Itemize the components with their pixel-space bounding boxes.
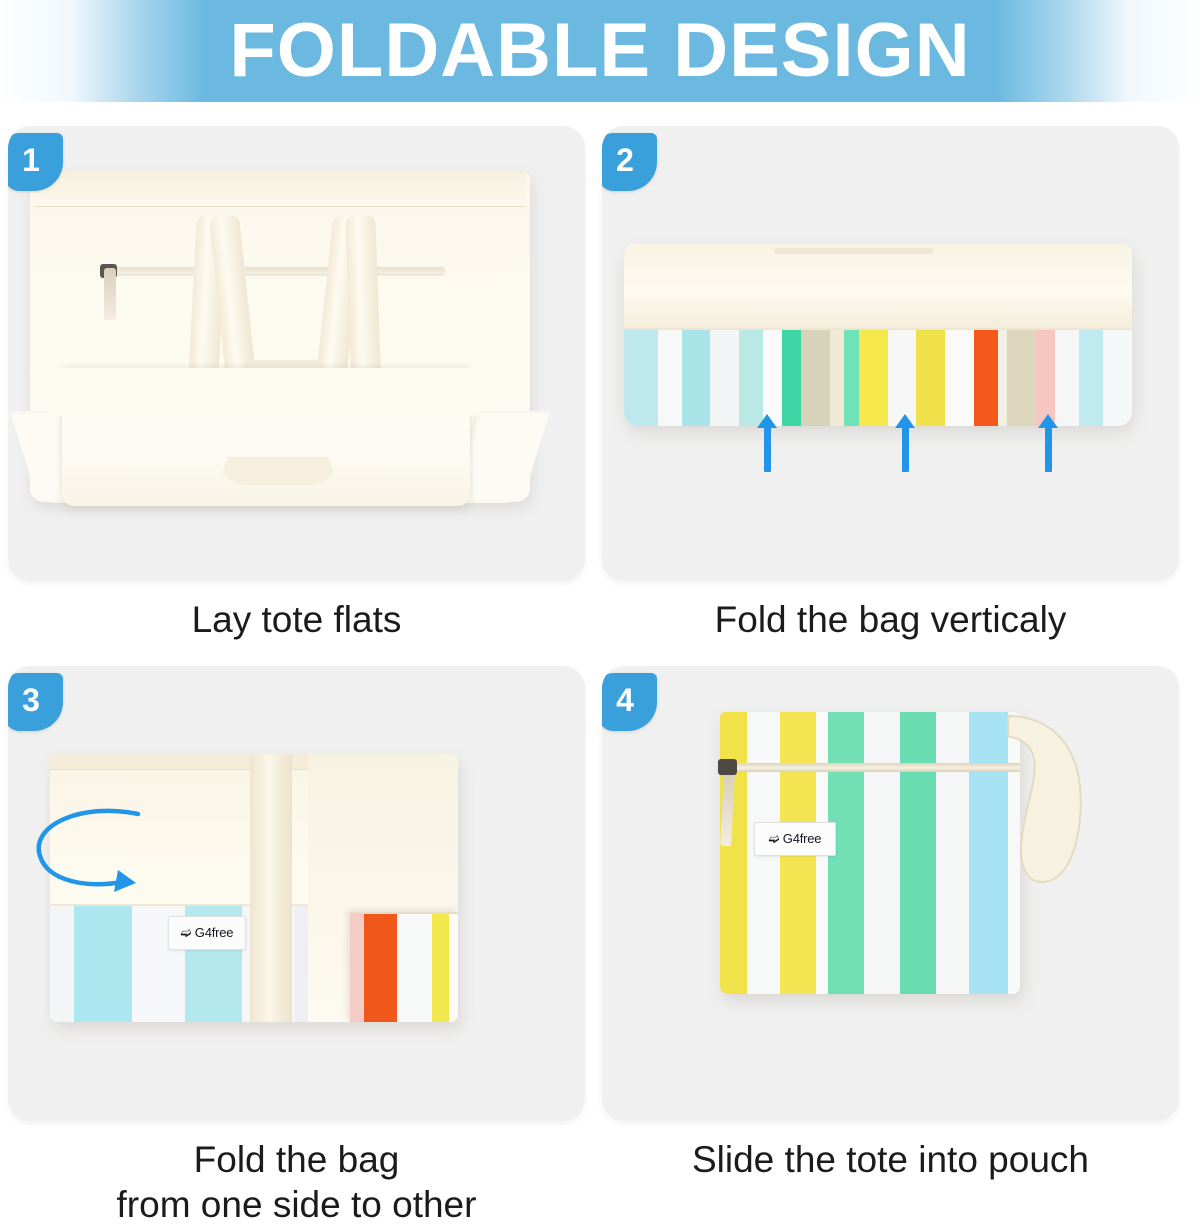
step-1-caption-line1: Lay tote flats (192, 599, 402, 640)
stripe-13 (945, 330, 974, 426)
stripe-14 (974, 330, 998, 426)
tote-zipper-pull (104, 268, 116, 320)
step-3-caption: Fold the bag from one side to other (8, 1137, 585, 1227)
tote-zipper-track (110, 267, 445, 274)
step-1-caption: Lay tote flats (8, 597, 585, 642)
bag-handle-strap-vertical (250, 754, 292, 1022)
step-card-2: 2 Fold the bag verticaly (602, 126, 1194, 642)
stripe-20 (1103, 330, 1132, 426)
stripe-0 (350, 914, 364, 1022)
up-arrow-icon-1 (764, 426, 771, 472)
header-banner: FOLDABLE DESIGN (0, 0, 1200, 102)
step-number-2: 2 (616, 144, 634, 176)
step-number-1: 1 (22, 144, 40, 176)
pouch-zipper-head (718, 759, 737, 775)
step-4-caption: Slide the tote into pouch (602, 1137, 1179, 1182)
stripe-2 (682, 330, 711, 426)
brand-label-text-3: ➫ G4free (181, 925, 234, 941)
stripe-15 (998, 330, 1008, 426)
stripe-0 (50, 906, 74, 1022)
brand-label-panel4: ➫ G4free (754, 822, 836, 856)
stripe-16 (1007, 330, 1036, 426)
stripe-6 (900, 712, 936, 994)
stripe-6 (782, 330, 801, 426)
step-number-4: 4 (616, 684, 634, 716)
up-arrow-icon-3 (1045, 426, 1052, 472)
stripe-12 (916, 330, 945, 426)
stripe-17 (1036, 330, 1055, 426)
stripe-18 (1055, 330, 1079, 426)
stripe-5 (763, 330, 782, 426)
step-2-caption-line1: Fold the bag verticaly (715, 599, 1067, 640)
step-number-badge-2: 2 (602, 133, 657, 191)
tote-handle-arc-lower (218, 457, 338, 485)
stripe-10 (859, 330, 888, 426)
step-4-caption-line1: Slide the tote into pouch (692, 1139, 1089, 1180)
stripe-4 (739, 330, 763, 426)
stripe-3 (710, 330, 739, 426)
stripe-19 (1079, 330, 1103, 426)
stripe-4 (449, 914, 458, 1022)
tote-bag-flat (30, 172, 530, 502)
step-2-caption: Fold the bag verticaly (602, 597, 1179, 642)
stripe-lining-panel2 (624, 330, 1132, 426)
step-2-photo: 2 (602, 126, 1179, 581)
stripe-1 (658, 330, 682, 426)
step-card-3: 3 ➫ G4free Fold the bag from one side to… (8, 666, 600, 1227)
stripe-8 (830, 330, 844, 426)
step-4-photo: 4 ➫ G4free (602, 666, 1179, 1121)
step-1-photo: 1 (8, 126, 585, 581)
step-card-1: 1 Lay tote flats (8, 126, 600, 642)
stripe-2 (397, 914, 432, 1022)
stripe-0 (624, 330, 658, 426)
flap-notch-left (29, 368, 109, 416)
step-3-caption-line2: from one side to other (8, 1182, 585, 1227)
tote-bag-folded-vertical (624, 244, 1132, 426)
step-number-3: 3 (22, 684, 40, 716)
step-3-caption-line1: Fold the bag (194, 1139, 400, 1180)
stripe-3 (432, 914, 449, 1022)
flap-notch-right (423, 368, 503, 416)
page-title: FOLDABLE DESIGN (229, 13, 970, 89)
step-3-photo: 3 ➫ G4free (8, 666, 585, 1121)
stripe-11 (888, 330, 917, 426)
stripe-7 (801, 330, 830, 426)
stripe-1 (364, 914, 397, 1022)
stripe-5 (864, 712, 900, 994)
tote-front-flap (62, 368, 470, 506)
stripe-1 (74, 906, 131, 1022)
stripe-9 (844, 330, 858, 426)
brand-label-text-4: ➫ G4free (769, 831, 822, 847)
up-arrow-icon-2 (902, 426, 909, 472)
step-number-badge-3: 3 (8, 673, 63, 731)
wrist-strap-icon (1002, 710, 1094, 910)
step-number-badge-4: 4 (602, 673, 657, 731)
stripe-7 (936, 712, 969, 994)
bag-cream-upper (624, 244, 1132, 330)
steps-grid: 1 Lay tote flats (0, 110, 1200, 1230)
step-card-4: 4 ➫ G4free Slide the tote into pouch (602, 666, 1194, 1182)
brand-label-panel3: ➫ G4free (168, 916, 246, 950)
pouch-zipper-track (720, 763, 1020, 772)
stripe-0 (720, 712, 747, 994)
stripe-flap-panel3 (350, 912, 458, 1022)
curved-fold-arrow-icon (26, 806, 156, 901)
